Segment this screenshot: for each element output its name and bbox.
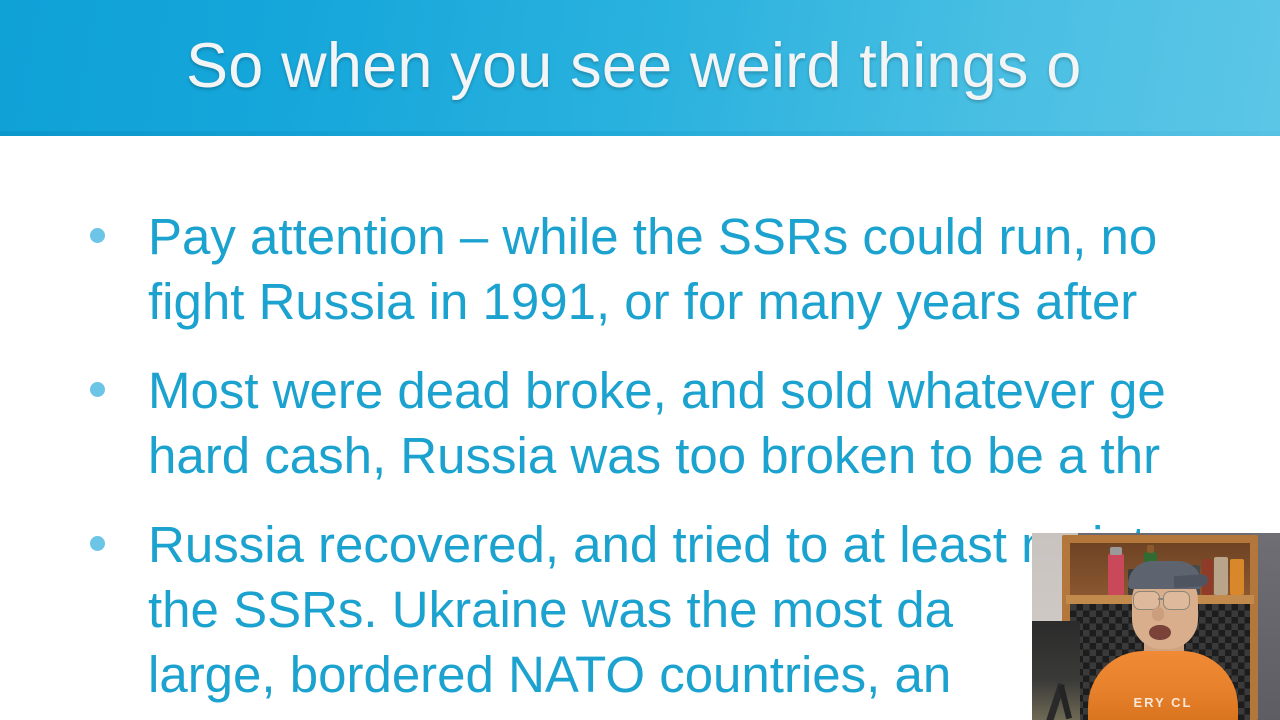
person-cap-brim xyxy=(1174,574,1209,588)
bullet-line: Russia recovered, and tried to at least … xyxy=(148,512,1146,577)
shelf-jar xyxy=(1214,557,1228,595)
bullet-text: Most were dead broke, and sold whatever … xyxy=(148,358,1166,488)
bullet-dot-icon xyxy=(90,228,105,243)
shelf-bottle-red xyxy=(1108,553,1124,595)
bullet-line: Most were dead broke, and sold whatever … xyxy=(148,358,1166,423)
bullet-line: fight Russia in 1991, or for many years … xyxy=(148,269,1157,334)
person-glasses-bridge xyxy=(1158,598,1164,600)
shelf-bottle-green-neck xyxy=(1147,545,1154,553)
bullet-line: hard cash, Russia was too broken to be a… xyxy=(148,423,1166,488)
webcam-overlay[interactable]: ERY CL xyxy=(1032,533,1280,720)
slide-title: So when you see weird things o xyxy=(186,23,1082,109)
shelf-can-orange xyxy=(1230,559,1244,595)
bullet-line: large, bordered NATO countries, an xyxy=(148,642,1146,707)
guitar-neck-secondary xyxy=(1058,685,1072,719)
shelf-bottle-red-cap xyxy=(1110,547,1122,555)
bullet-dot-icon xyxy=(90,536,105,551)
person-mouth xyxy=(1149,625,1171,640)
bullet-dot-icon xyxy=(90,382,105,397)
bullet-text: Pay attention – while the SSRs could run… xyxy=(148,204,1157,334)
slide-title-band: So when you see weird things o xyxy=(0,0,1280,131)
bullet-line: Pay attention – while the SSRs could run… xyxy=(148,204,1157,269)
bullet-line: the SSRs. Ukraine was the most da xyxy=(148,577,1146,642)
presentation-slide: So when you see weird things o Pay atten… xyxy=(0,0,1280,720)
person-glasses-right-lens xyxy=(1163,591,1190,610)
guitar-stand-gear xyxy=(1032,621,1080,720)
person-nose xyxy=(1152,607,1164,621)
person-torso-shirt: ERY CL xyxy=(1088,651,1238,720)
shirt-graphic-text: ERY CL xyxy=(1088,695,1238,710)
bullet-text: Russia recovered, and tried to at least … xyxy=(148,512,1146,707)
